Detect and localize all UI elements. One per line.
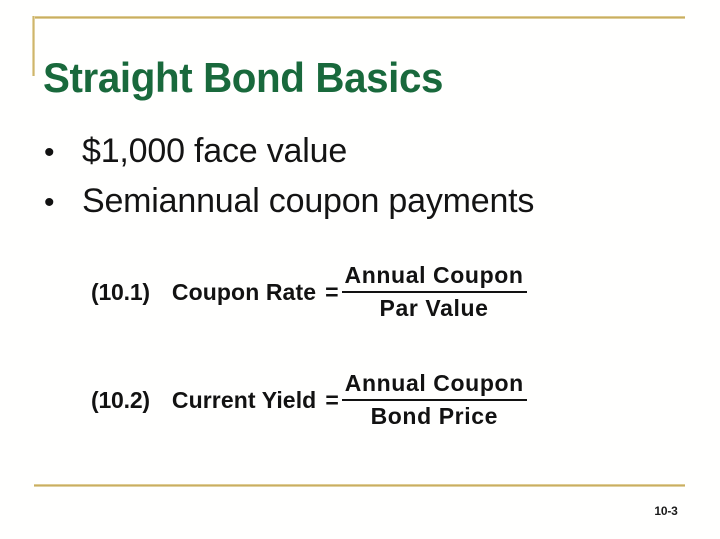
slide-title: Straight Bond Basics [43,54,443,102]
equation-current-yield: (10.2) Current Yield = Annual Coupon Bon… [91,370,527,430]
list-item: • $1,000 face value [40,130,660,180]
fraction-denominator: Bond Price [368,403,501,430]
top-accent-rule [32,16,685,19]
page-number: 10-3 [642,504,690,518]
fraction-numerator: Annual Coupon [342,262,527,289]
equals-sign: = [325,278,338,307]
fraction-bar [342,399,527,401]
equation-coupon-rate: (10.1) Coupon Rate = Annual Coupon Par V… [91,262,527,322]
fraction: Annual Coupon Bond Price [342,370,527,430]
slide-canvas: Straight Bond Basics • $1,000 face value… [0,0,720,539]
bullet-text: $1,000 face value [82,130,347,172]
equation-number: (10.1) [91,278,150,307]
list-item: • Semiannual coupon payments [40,180,660,230]
equation-label: Current Yield [172,386,316,415]
left-accent-rule [32,16,35,76]
fraction: Annual Coupon Par Value [342,262,527,322]
fraction-bar [342,291,527,293]
bullet-text: Semiannual coupon payments [82,180,534,222]
fraction-denominator: Par Value [377,295,492,322]
equals-sign: = [325,386,338,415]
fraction-numerator: Annual Coupon [342,370,527,397]
bullet-dot-icon: • [40,132,82,174]
bottom-accent-rule [34,484,685,487]
equation-label: Coupon Rate [172,278,316,307]
bullet-list: • $1,000 face value • Semiannual coupon … [40,130,660,230]
equation-number: (10.2) [91,386,150,415]
bullet-dot-icon: • [40,182,82,224]
